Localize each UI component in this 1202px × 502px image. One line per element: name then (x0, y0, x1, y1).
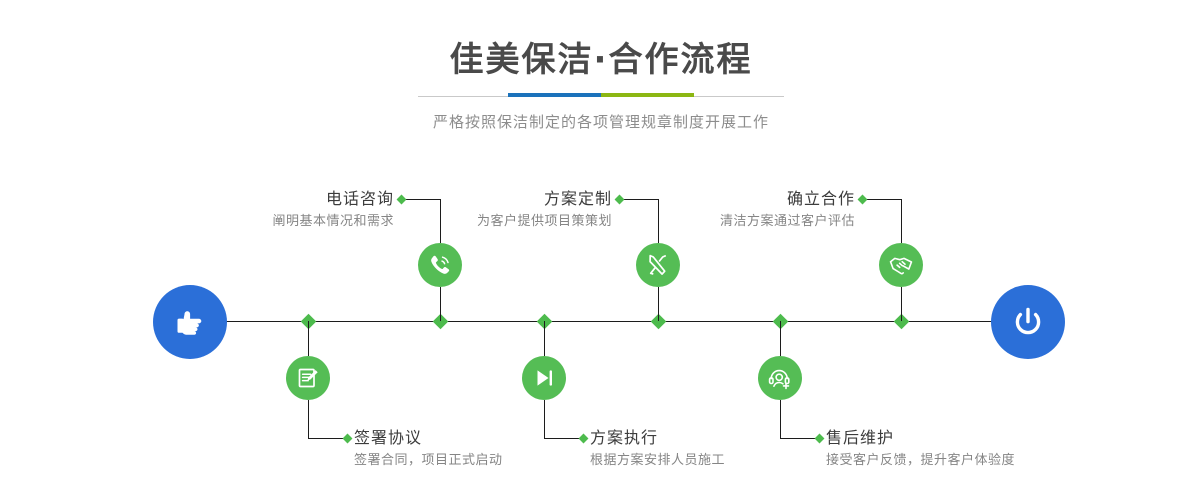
page-subtitle: 严格按照保洁制定的各项管理规章制度开展工作 (0, 102, 1202, 133)
step-title-3: 方案定制 (368, 189, 612, 209)
flow-start-node[interactable] (153, 285, 227, 359)
step-label-4: 方案执行 根据方案安排人员施工 (590, 428, 725, 471)
step-icon-play-next[interactable] (522, 356, 566, 400)
divider-segment-blue (508, 93, 601, 97)
step-label-2: 签署协议 签署合同，项目正式启动 (354, 428, 503, 471)
step-desc-4: 根据方案安排人员施工 (590, 451, 725, 471)
headset-support-icon (767, 365, 793, 391)
step-label-1: 电话咨询 阐明基本情况和需求 (150, 189, 394, 232)
handshake-icon (888, 252, 914, 278)
page-title: 佳美保洁·合作流程 (0, 0, 1202, 82)
step-desc-3: 为客户提供项目策策划 (368, 212, 612, 232)
stem-step-1 (440, 287, 441, 321)
step-label-3: 方案定制 为客户提供项目策策划 (368, 189, 612, 232)
step-title-1: 电话咨询 (150, 189, 394, 209)
elbow-h-step-6 (780, 438, 818, 439)
stem-step-4 (544, 321, 545, 356)
label-tip-step-5 (858, 195, 868, 205)
pointing-hand-icon (170, 302, 210, 342)
step-icon-phone-ring[interactable] (418, 243, 462, 287)
step-label-6: 售后维护 接受客户反馈，提升客户体验度 (826, 428, 1015, 471)
elbow-v-step-6 (780, 400, 781, 438)
label-tip-step-4 (579, 434, 589, 444)
elbow-h-step-5 (864, 199, 901, 200)
elbow-v-step-2 (308, 400, 309, 438)
divider-segment-green (601, 93, 694, 97)
stem-step-5 (901, 287, 902, 321)
step-icon-document-pen[interactable] (286, 356, 330, 400)
step-desc-6: 接受客户反馈，提升客户体验度 (826, 451, 1015, 471)
phone-ring-icon (427, 252, 453, 278)
step-title-2: 签署协议 (354, 428, 503, 448)
step-icon-handshake[interactable] (879, 243, 923, 287)
step-title-5: 确立合作 (611, 189, 855, 209)
document-pen-icon (295, 365, 321, 391)
step-icon-pencil-ruler[interactable] (636, 243, 680, 287)
elbow-v-step-5 (901, 199, 902, 243)
label-tip-step-6 (815, 434, 825, 444)
step-desc-1: 阐明基本情况和需求 (150, 212, 394, 232)
pencil-ruler-icon (645, 252, 671, 278)
title-divider (418, 92, 784, 102)
step-title-6: 售后维护 (826, 428, 1015, 448)
stem-step-3 (658, 287, 659, 321)
step-desc-5: 清洁方案通过客户评估 (611, 212, 855, 232)
power-icon (1008, 302, 1048, 342)
step-label-5: 确立合作 清洁方案通过客户评估 (611, 189, 855, 232)
elbow-h-step-4 (544, 438, 582, 439)
label-tip-step-2 (343, 434, 353, 444)
step-title-4: 方案执行 (590, 428, 725, 448)
stem-step-2 (308, 321, 309, 356)
step-desc-2: 签署合同，项目正式启动 (354, 451, 503, 471)
elbow-h-step-2 (308, 438, 346, 439)
elbow-v-step-4 (544, 400, 545, 438)
flow-diagram-canvas: 佳美保洁·合作流程 严格按照保洁制定的各项管理规章制度开展工作 (0, 0, 1202, 502)
step-icon-headset-support[interactable] (758, 356, 802, 400)
stem-step-6 (780, 321, 781, 356)
play-next-icon (531, 365, 557, 391)
page-header: 佳美保洁·合作流程 严格按照保洁制定的各项管理规章制度开展工作 (0, 0, 1202, 133)
flow-end-node[interactable] (991, 285, 1065, 359)
